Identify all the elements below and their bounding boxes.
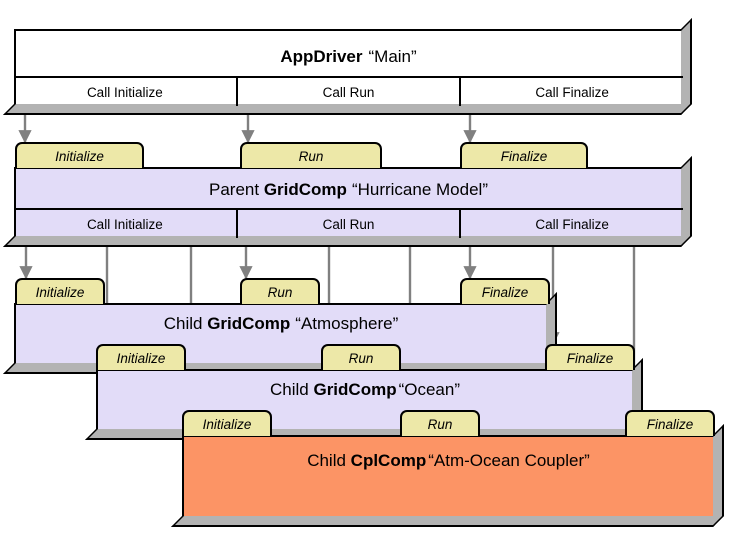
parent-call-run[interactable]: Call Run: [236, 210, 462, 238]
atmosphere-tab-run[interactable]: Run: [240, 278, 320, 304]
appdriver-callbar: Call Initialize Call Run Call Finalize: [14, 76, 683, 106]
parent-instance-name: “Hurricane Model”: [352, 180, 488, 199]
appdriver-type-name: AppDriver: [280, 47, 362, 66]
component-child-coupler[interactable]: Child CplComp“Atm-Ocean Coupler”: [182, 435, 715, 518]
ocean-type-name: GridComp: [313, 380, 396, 399]
appdriver-title: AppDriver“Main”: [16, 47, 681, 67]
ocean-tab-run[interactable]: Run: [321, 344, 401, 370]
appdriver-call-initialize[interactable]: Call Initialize: [14, 78, 238, 106]
coupler-type-name: CplComp: [351, 451, 427, 470]
coupler-role-prefix: Child: [307, 451, 350, 470]
parent-type-name: GridComp: [264, 180, 347, 199]
diagram-canvas: AppDriver“Main” Call Initialize Call Run…: [0, 0, 749, 547]
parent-tab-initialize[interactable]: Initialize: [15, 142, 144, 168]
component-child-ocean[interactable]: Child GridComp“Ocean”: [96, 369, 634, 431]
appdriver-call-finalize[interactable]: Call Finalize: [459, 78, 683, 106]
atmosphere-type-name: GridComp: [207, 314, 290, 333]
block-shadow-bottom: [171, 516, 724, 527]
coupler-tab-finalize[interactable]: Finalize: [625, 410, 715, 436]
parent-gridcomp-title: Parent GridComp“Hurricane Model”: [16, 180, 681, 200]
component-child-atmosphere[interactable]: Child GridComp“Atmosphere”: [14, 303, 548, 365]
coupler-instance-name: “Atm-Ocean Coupler”: [428, 451, 590, 470]
parent-tab-finalize[interactable]: Finalize: [460, 142, 588, 168]
atmosphere-tab-finalize[interactable]: Finalize: [460, 278, 550, 304]
appdriver-instance-name: “Main”: [369, 47, 417, 66]
coupler-title: Child CplComp“Atm-Ocean Coupler”: [184, 451, 713, 471]
coupler-tab-run[interactable]: Run: [400, 410, 480, 436]
atmosphere-tab-initialize[interactable]: Initialize: [15, 278, 105, 304]
parent-role-prefix: Parent: [209, 180, 264, 199]
atmosphere-role-prefix: Child: [164, 314, 207, 333]
ocean-instance-name: “Ocean”: [399, 380, 460, 399]
block-shadow-right: [713, 424, 724, 527]
component-parent-gridcomp[interactable]: Parent GridComp“Hurricane Model” Call In…: [14, 167, 683, 238]
atmosphere-instance-name: “Atmosphere”: [295, 314, 398, 333]
parent-call-initialize[interactable]: Call Initialize: [14, 210, 238, 238]
component-appdriver[interactable]: AppDriver“Main” Call Initialize Call Run…: [14, 29, 683, 106]
parent-tab-run[interactable]: Run: [240, 142, 382, 168]
appdriver-call-run[interactable]: Call Run: [236, 78, 462, 106]
ocean-title: Child GridComp“Ocean”: [98, 380, 632, 400]
parent-call-finalize[interactable]: Call Finalize: [459, 210, 683, 238]
atmosphere-title: Child GridComp“Atmosphere”: [16, 314, 546, 334]
parent-callbar: Call Initialize Call Run Call Finalize: [14, 208, 683, 238]
ocean-tab-initialize[interactable]: Initialize: [96, 344, 186, 370]
coupler-tab-initialize[interactable]: Initialize: [182, 410, 272, 436]
ocean-tab-finalize[interactable]: Finalize: [545, 344, 635, 370]
ocean-role-prefix: Child: [270, 380, 313, 399]
